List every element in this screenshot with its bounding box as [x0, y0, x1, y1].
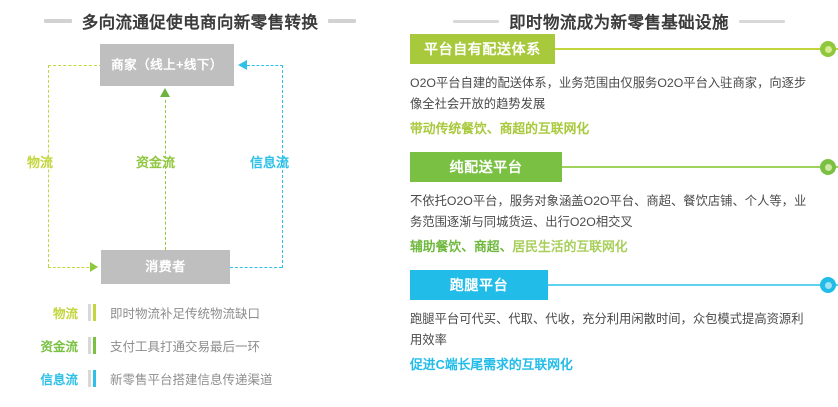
info-flow-bottom-segment: [230, 267, 282, 268]
card-connector-line: [562, 166, 838, 168]
right-title-row: 即时物流成为新零售基础设施: [400, 0, 838, 33]
card-description: 跑腿平台可代买、代取、代收，充分利用闲散时间，众包模式提高资源利用效率: [410, 309, 812, 351]
legend-item-logistics: 物流 即时物流补足传统物流缺口: [0, 296, 400, 329]
flow-diagram: 商家（线上+线下） 消费者 物流 资金流 信息流: [0, 34, 400, 294]
capital-flow-segment: [165, 100, 166, 250]
flow-label-capital: 资金流: [136, 152, 175, 171]
info-flow-top-segment: [247, 65, 283, 66]
card-tag-label: 跑腿平台: [410, 270, 548, 300]
title-rule-right: [739, 20, 785, 23]
card-tag-label: 平台自有配送体系: [410, 34, 555, 64]
legend-label-logistics: 物流: [0, 303, 88, 322]
legend-desc-logistics: 即时物流补足传统物流缺口: [110, 303, 260, 322]
card-endpoint-dot: [820, 41, 836, 57]
card-endpoint-dot: [820, 277, 836, 293]
title-rule-right: [328, 19, 356, 23]
card-highlight: 辅助餐饮、商超、居民生活的互联网化: [410, 236, 812, 257]
card-header: 纯配送平台: [400, 152, 838, 182]
node-merchant: 商家（线上+线下）: [100, 44, 234, 86]
card-platform-own-delivery[interactable]: 平台自有配送体系 O2O平台自建的配送体系，业务范围由仅服务O2O平台入驻商家，…: [400, 34, 838, 152]
legend-marker-capital: [88, 337, 96, 354]
legend-item-capital: 资金流 支付工具打通交易最后一环: [0, 329, 400, 362]
left-panel-title: 多向流通促使电商向新零售转换: [82, 9, 319, 33]
card-highlight: 促进C端长尾需求的互联网化: [410, 354, 812, 375]
card-description: 不依托O2O平台，服务对象涵盖O2O平台、商超、餐饮店铺、个人等，业务范围逐渐与…: [410, 191, 812, 233]
legend-label-information: 信息流: [0, 369, 88, 388]
card-errand-platform[interactable]: 跑腿平台 跑腿平台可代买、代取、代收，充分利用闲散时间，众包模式提高资源利用效率…: [400, 270, 838, 388]
logistics-flow-arrow: [90, 262, 98, 272]
legend-desc-capital: 支付工具打通交易最后一环: [110, 336, 260, 355]
legend-marker-information: [88, 370, 96, 387]
title-rule-left: [44, 19, 72, 23]
card-pure-delivery-platform[interactable]: 纯配送平台 不依托O2O平台，服务对象涵盖O2O平台、商超、餐饮店铺、个人等，业…: [400, 152, 838, 270]
flow-legend: 物流 即时物流补足传统物流缺口 资金流 支付工具打通交易最后一环 信息流 新零售…: [0, 296, 400, 395]
legend-label-capital: 资金流: [0, 336, 88, 355]
card-body: 不依托O2O平台，服务对象涵盖O2O平台、商超、餐饮店铺、个人等，业务范围逐渐与…: [400, 182, 838, 257]
capital-flow-arrow: [160, 88, 170, 97]
legend-marker-logistics: [88, 304, 96, 321]
flow-label-information: 信息流: [250, 152, 289, 171]
legend-desc-information: 新零售平台搭建信息传递渠道: [110, 369, 273, 388]
left-panel: 多向流通促使电商向新零售转换 商家（线上+线下） 消费者 物流 资金流 信息流 …: [0, 0, 400, 407]
card-endpoint-dot: [820, 159, 836, 175]
card-header: 跑腿平台: [400, 270, 838, 300]
card-connector-line: [548, 284, 838, 286]
info-flow-arrow: [238, 60, 247, 70]
delivery-model-cards: 平台自有配送体系 O2O平台自建的配送体系，业务范围由仅服务O2O平台入驻商家，…: [400, 34, 838, 388]
node-consumer: 消费者: [101, 250, 230, 284]
legend-item-information: 信息流 新零售平台搭建信息传递渠道: [0, 362, 400, 395]
card-highlight: 带动传统餐饮、商超的互联网化: [410, 118, 812, 139]
card-description: O2O平台自建的配送体系，业务范围由仅服务O2O平台入驻商家，向逐步像全社会开放…: [410, 73, 812, 115]
logistics-flow-bottom-segment: [48, 267, 94, 268]
card-connector-line: [555, 48, 838, 50]
flow-label-logistics: 物流: [27, 152, 53, 171]
card-body: 跑腿平台可代买、代取、代收，充分利用闲散时间，众包模式提高资源利用效率 促进C端…: [400, 300, 838, 375]
card-tag-label: 纯配送平台: [410, 152, 562, 182]
card-body: O2O平台自建的配送体系，业务范围由仅服务O2O平台入驻商家，向逐步像全社会开放…: [400, 64, 838, 139]
right-panel-title: 即时物流成为新零售基础设施: [509, 9, 729, 33]
left-title-row: 多向流通促使电商向新零售转换: [0, 0, 400, 33]
right-panel: 即时物流成为新零售基础设施 平台自有配送体系 O2O平台自建的配送体系，业务范围…: [400, 0, 838, 407]
logistics-flow-top-segment: [48, 65, 102, 66]
title-rule-left: [453, 20, 499, 23]
card-header: 平台自有配送体系: [400, 34, 838, 64]
